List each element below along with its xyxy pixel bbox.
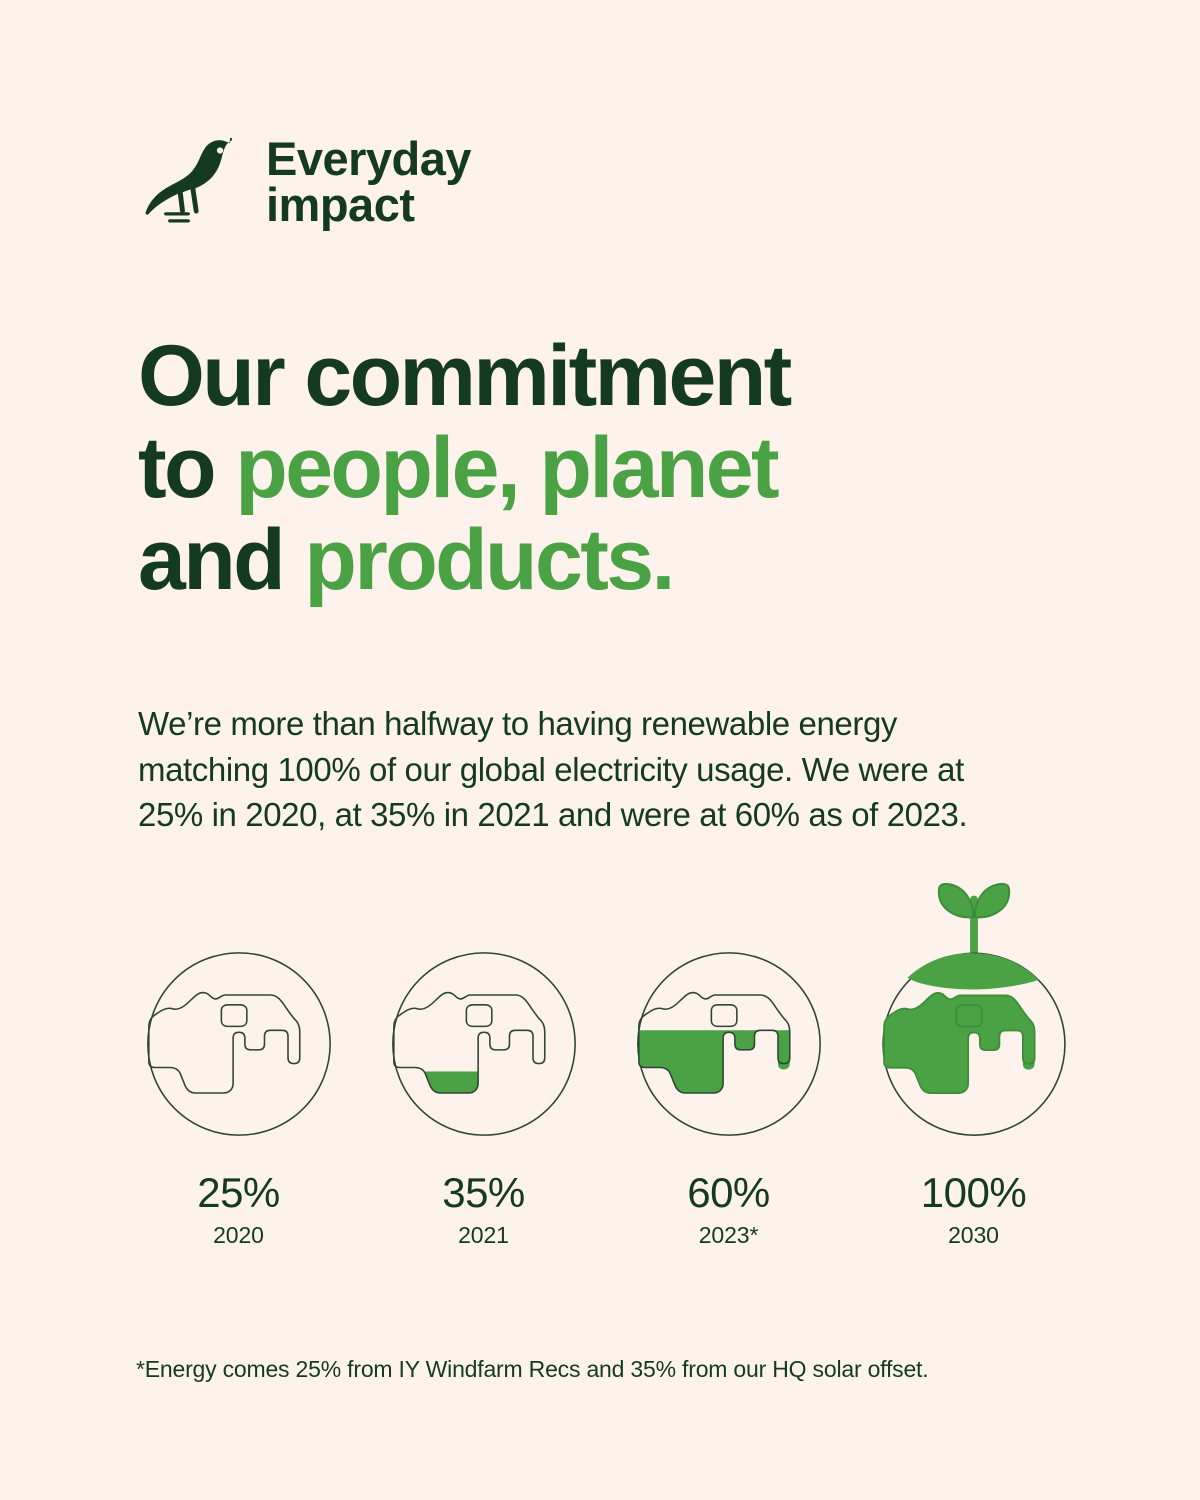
list-item: 100% 2030 — [871, 866, 1076, 1247]
brand-line-1: Everyday — [266, 136, 471, 182]
body-paragraph: We’re more than halfway to having renewa… — [138, 701, 968, 838]
sprout-icon — [938, 884, 1008, 954]
globe-fill-60-icon — [631, 866, 827, 1142]
list-item: 25% 2020 — [136, 866, 341, 1247]
headline-line-2-accent: people, planet — [235, 420, 777, 516]
brand-line-2: impact — [266, 182, 471, 228]
globe-year-label: 2030 — [948, 1224, 999, 1247]
list-item: 35% 2021 — [381, 866, 586, 1247]
headline-line-3-plain: and — [138, 512, 304, 608]
brand-wordmark: Everyday impact — [266, 136, 471, 228]
status-badge: 100% — [921, 1172, 1026, 1214]
headline-line-2-plain: to — [138, 420, 235, 516]
footnote: *Energy comes 25% from IY Windfarm Recs … — [136, 1356, 928, 1383]
headline-line-3-accent: products. — [304, 512, 672, 608]
status-badge: 60% — [687, 1172, 770, 1214]
globe-fill-35-icon — [386, 866, 582, 1142]
page-title: Our commitment to people, planet and pro… — [138, 330, 1078, 606]
globe-year-label: 2020 — [213, 1224, 264, 1247]
list-item: 60% 2023* — [626, 866, 831, 1247]
globe-year-label: 2023* — [699, 1224, 759, 1247]
globe-fill-25-icon — [141, 866, 337, 1142]
status-badge: 25% — [197, 1172, 280, 1214]
globe-fill-100-sprout-icon — [876, 866, 1072, 1142]
bird-icon — [136, 126, 248, 238]
status-badge: 35% — [442, 1172, 525, 1214]
globe-year-label: 2021 — [458, 1224, 509, 1247]
brand-logo: Everyday impact — [136, 126, 471, 238]
renewable-progress-chart: 25% 2020 35% 2021 — [136, 866, 1076, 1247]
headline-line-1: Our commitment — [138, 328, 790, 424]
